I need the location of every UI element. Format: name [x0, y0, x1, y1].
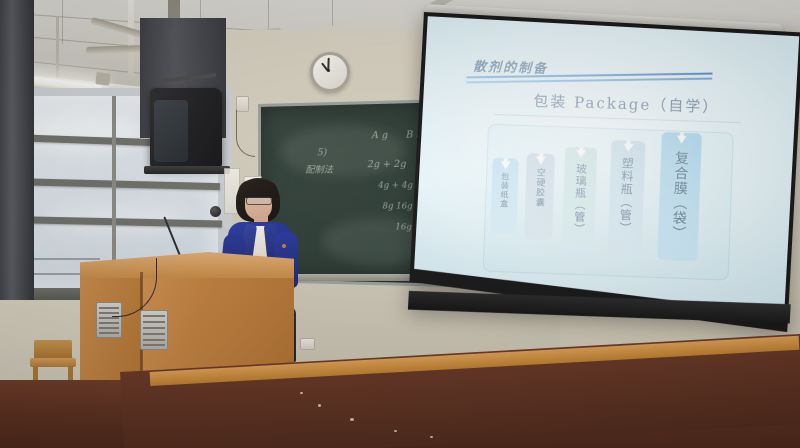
lectern-vent-grille	[140, 310, 168, 350]
tv-screen	[154, 100, 188, 162]
package-box-row: 包装纸盒 空硬胶囊 玻璃瓶（管） 塑料瓶（管）	[485, 120, 741, 285]
package-box: 玻璃瓶（管）	[562, 147, 598, 248]
ceiling-tile-line	[62, 0, 63, 44]
down-arrow-icon	[623, 144, 633, 152]
package-box: 包装纸盒	[490, 158, 519, 235]
title-underline	[466, 78, 712, 84]
light-support-rod	[56, 16, 59, 78]
clock-center-pin	[327, 69, 330, 72]
package-box-label: 空硬胶囊	[533, 167, 547, 207]
hair-fringe	[238, 180, 278, 198]
floor-debris	[318, 404, 321, 407]
pull-down-projection-screen: 散剂的制备 包装 Package（自学） 包装纸盒 空硬胶囊	[406, 12, 800, 362]
chalk-note: 5)	[318, 148, 328, 158]
floor-debris	[300, 392, 303, 394]
window-glare	[26, 112, 146, 152]
package-box: 空硬胶囊	[524, 153, 555, 240]
slide-title: 散剂的制备	[473, 56, 549, 77]
wall-clock	[310, 52, 350, 92]
chalk-note: 4g + 4g	[378, 180, 413, 189]
down-arrow-icon	[576, 150, 586, 158]
package-box-label: 复合膜（袋）	[668, 150, 691, 241]
chalk-note: 2g + 2g	[368, 160, 407, 171]
chair-back	[34, 340, 72, 360]
package-box: 复合膜（袋）	[657, 132, 702, 261]
ceiling-tile-line	[332, 0, 333, 26]
ceiling-tile-line	[268, 0, 269, 30]
projected-slide: 散剂的制备 包装 Package（自学） 包装纸盒 空硬胶囊	[413, 16, 799, 314]
microphone-head-icon[interactable]	[210, 206, 221, 217]
floor-debris	[394, 430, 397, 432]
light-end-cap	[95, 72, 110, 86]
slide-subtitle: 包装 Package（自学）	[533, 90, 720, 117]
down-arrow-icon	[536, 156, 546, 164]
package-box: 塑料瓶（管）	[607, 140, 645, 253]
cardigan-button	[282, 244, 286, 248]
chalk-note: 配制法	[305, 162, 333, 175]
floor-debris	[430, 436, 433, 438]
chalk-note: 16g	[395, 222, 412, 232]
classroom-photo-scene: A g B kg 5) 配制法 2g + 2g 4g + 4g 8g 16g 1…	[0, 0, 800, 448]
package-box-label: 塑料瓶（管）	[617, 157, 637, 236]
tv-shelf	[144, 166, 230, 174]
chalk-note: A g	[372, 131, 388, 142]
package-box-label: 玻璃瓶（管）	[570, 163, 589, 236]
down-arrow-icon	[500, 161, 510, 169]
ceiling-support-rod	[128, 0, 134, 74]
down-arrow-icon	[677, 136, 687, 144]
dark-window-curtain	[0, 0, 34, 310]
floor-debris	[350, 418, 354, 421]
package-box-label: 包装纸盒	[499, 172, 511, 208]
glasses	[246, 197, 272, 205]
